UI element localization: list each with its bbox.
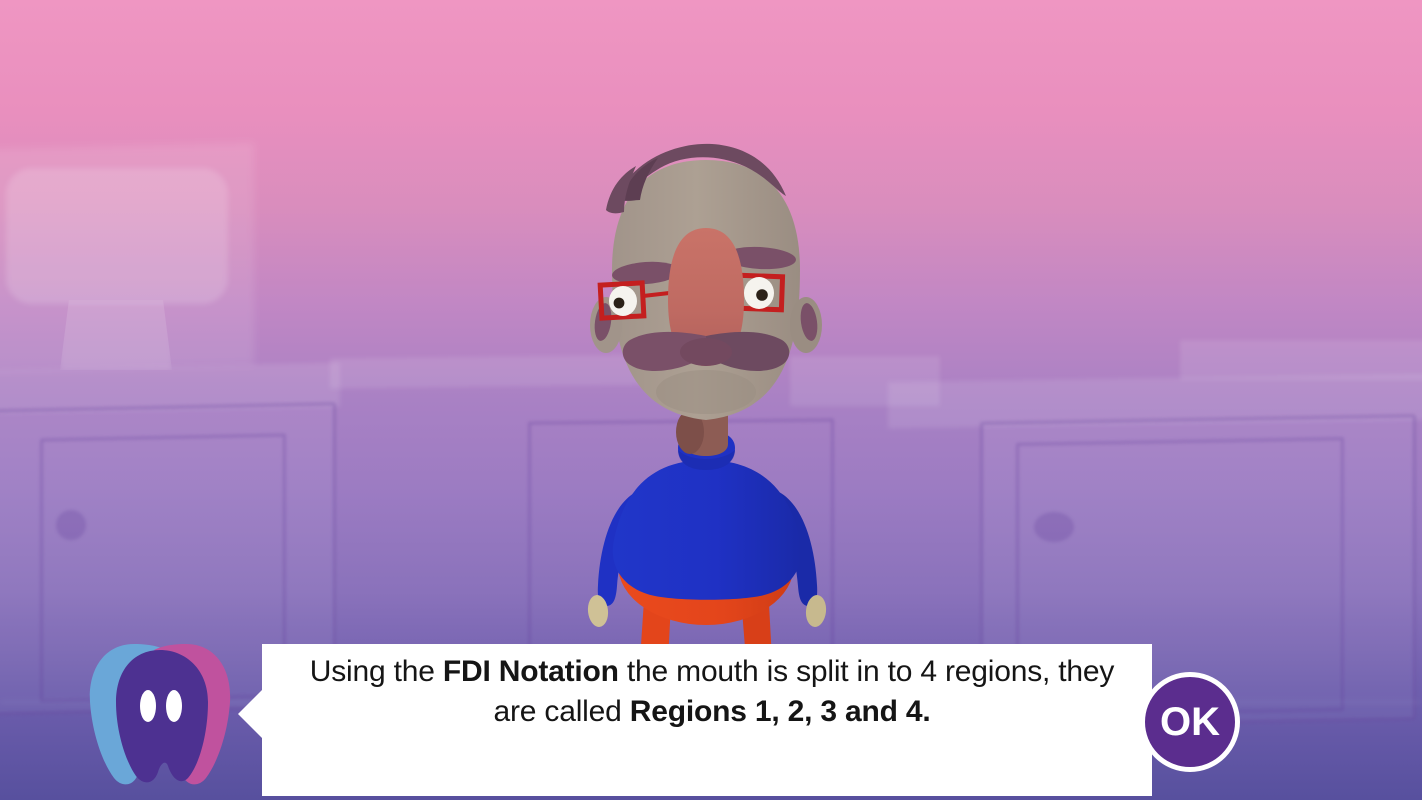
dialog-text: Using the FDI Notation the mouth is spli… <box>304 652 1120 731</box>
dialog-text-emphasis: Regions 1, 2, 3 and 4. <box>630 695 931 728</box>
counter-shelf-right <box>1180 340 1422 380</box>
ok-button[interactable]: OK <box>1140 672 1240 772</box>
counter-top-middle <box>330 353 750 388</box>
monitor-screen <box>6 168 228 304</box>
cabinet-right-handle <box>1034 512 1074 542</box>
tooth-logo <box>74 636 246 800</box>
cabinet-left-handle <box>56 510 86 540</box>
dialog-text-emphasis: FDI Notation <box>443 655 619 688</box>
speech-dialog[interactable]: Using the FDI Notation the mouth is spli… <box>262 644 1152 796</box>
dialog-text-plain: Using the <box>310 655 443 688</box>
game-screen: Using the FDI Notation the mouth is spli… <box>0 0 1422 800</box>
monitor-stand <box>60 300 172 370</box>
ok-button-label: OK <box>1160 702 1220 742</box>
